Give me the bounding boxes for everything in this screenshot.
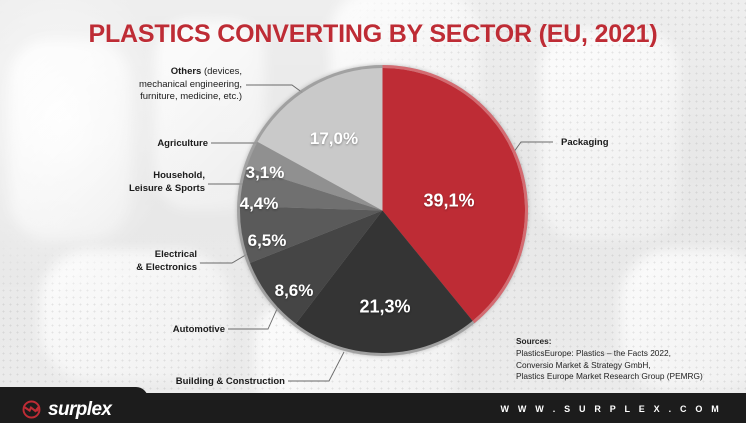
callout-household-line1: Household, [129, 170, 205, 183]
sources-header: Sources: [516, 336, 703, 348]
callout-packaging: Packaging [561, 137, 609, 150]
callout-others-line3: furniture, medicine, etc.) [139, 91, 242, 104]
sources-block: Sources: PlasticsEurope: Plastics – the … [516, 336, 703, 383]
callout-others-rest: (devices, [204, 66, 242, 77]
callout-others-line2: mechanical engineering, [139, 79, 242, 92]
callout-household-line2: Leisure & Sports [129, 183, 205, 196]
pie-slices [237, 65, 528, 356]
callout-electrical-line1: Electrical [136, 249, 197, 262]
globe-icon [22, 400, 41, 419]
callout-others-bold: Others [171, 66, 204, 77]
callout-electrical-line2: & Electronics [136, 262, 197, 275]
page-title: PLASTICS CONVERTING BY SECTOR (EU, 2021) [0, 20, 746, 49]
callout-building: Building & Construction [176, 376, 285, 389]
callout-agriculture: Agriculture [157, 138, 208, 151]
pie-chart [237, 65, 528, 356]
callout-automotive: Automotive [173, 324, 225, 337]
callout-household: Household, Leisure & Sports [129, 170, 205, 195]
surplex-logo[interactable]: surplex [22, 400, 111, 419]
callout-others: Others (devices, mechanical engineering,… [139, 66, 242, 104]
infographic-canvas: PLASTICS CONVERTING BY SECTOR (EU, 2021)… [0, 0, 746, 423]
callout-electrical: Electrical & Electronics [136, 249, 197, 274]
sources-line-1: PlasticsEurope: Plastics – the Facts 202… [516, 348, 703, 360]
sources-line-3: Plastics Europe Market Research Group (P… [516, 371, 703, 383]
sources-line-2: Conversio Market & Strategy GmbH, [516, 360, 703, 372]
footer-bar: surplex W W W . S U R P L E X . C O M [0, 393, 746, 423]
footer-url: W W W . S U R P L E X . C O M [501, 404, 722, 414]
surplex-wordmark: surplex [48, 400, 111, 419]
